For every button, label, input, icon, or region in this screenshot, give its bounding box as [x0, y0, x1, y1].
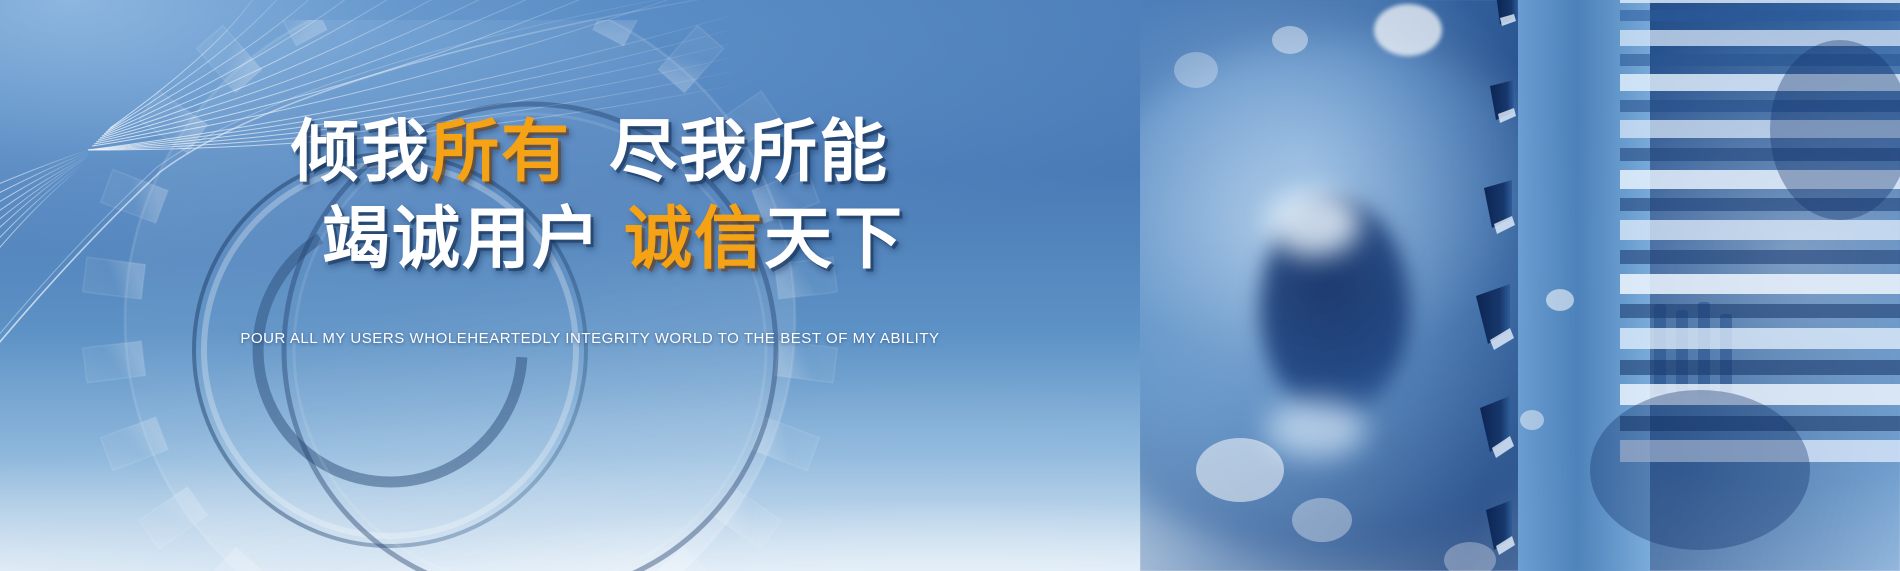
- slogan-l2-seg2: 诚信: [624, 200, 764, 279]
- hero-banner: 倾我所有尽我所能 竭诚用户诚信天下 POUR ALL MY USERS WHOL…: [0, 0, 1900, 571]
- slogan-l1-seg3: 尽我所能: [609, 113, 889, 192]
- slogan-block: 倾我所有尽我所能 竭诚用户诚信天下: [0, 118, 1180, 274]
- slogan-l1-seg2: 所有: [431, 113, 571, 192]
- slogan-line-2: 竭诚用户诚信天下: [0, 205, 1180, 274]
- ghost-gear-outline-icon: [60, 20, 880, 571]
- slogan-l2-seg1: 竭诚用户: [322, 200, 602, 279]
- macro-gear-photograph: [1140, 0, 1900, 571]
- slogan-l2-seg3: 天下: [764, 200, 904, 279]
- bokeh-highlights: [1140, 0, 1900, 571]
- slogan-subtitle: POUR ALL MY USERS WHOLEHEARTEDLY INTEGRI…: [0, 330, 1180, 347]
- slogan-line-1: 倾我所有尽我所能: [0, 118, 1180, 187]
- slogan-l1-seg1: 倾我: [291, 113, 431, 192]
